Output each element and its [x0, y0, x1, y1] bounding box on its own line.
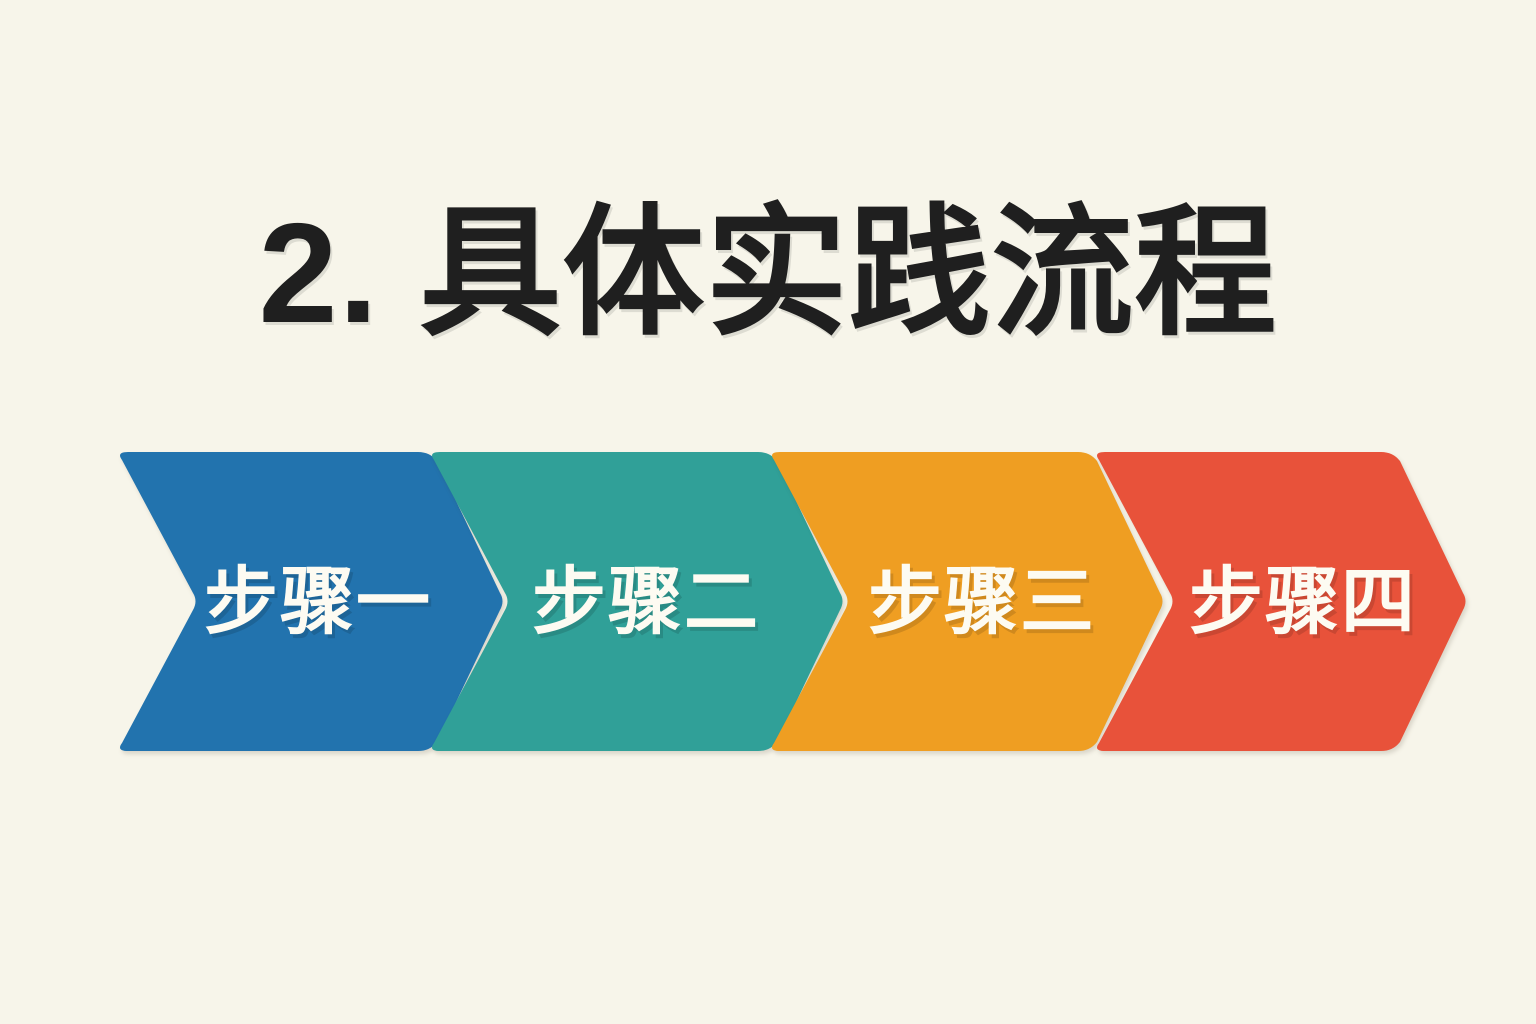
title-block: 2. 具体实践流程	[0, 108, 1536, 440]
process-step-4-label: 步骤四	[1189, 565, 1417, 639]
page-title: 2. 具体实践流程	[259, 203, 1278, 345]
process-step-3-label: 步骤三	[868, 565, 1096, 639]
process-flow-diagram: 步骤一 步骤二 步骤三 步骤四	[0, 450, 1536, 760]
process-step-1-label: 步骤一	[204, 565, 432, 639]
process-step-2-label: 步骤二	[532, 565, 760, 639]
process-step-4[interactable]: 步骤四	[1085, 450, 1468, 753]
slide-canvas: 2. 具体实践流程 步骤一 步骤二 步骤三 步骤四	[0, 0, 1536, 1024]
